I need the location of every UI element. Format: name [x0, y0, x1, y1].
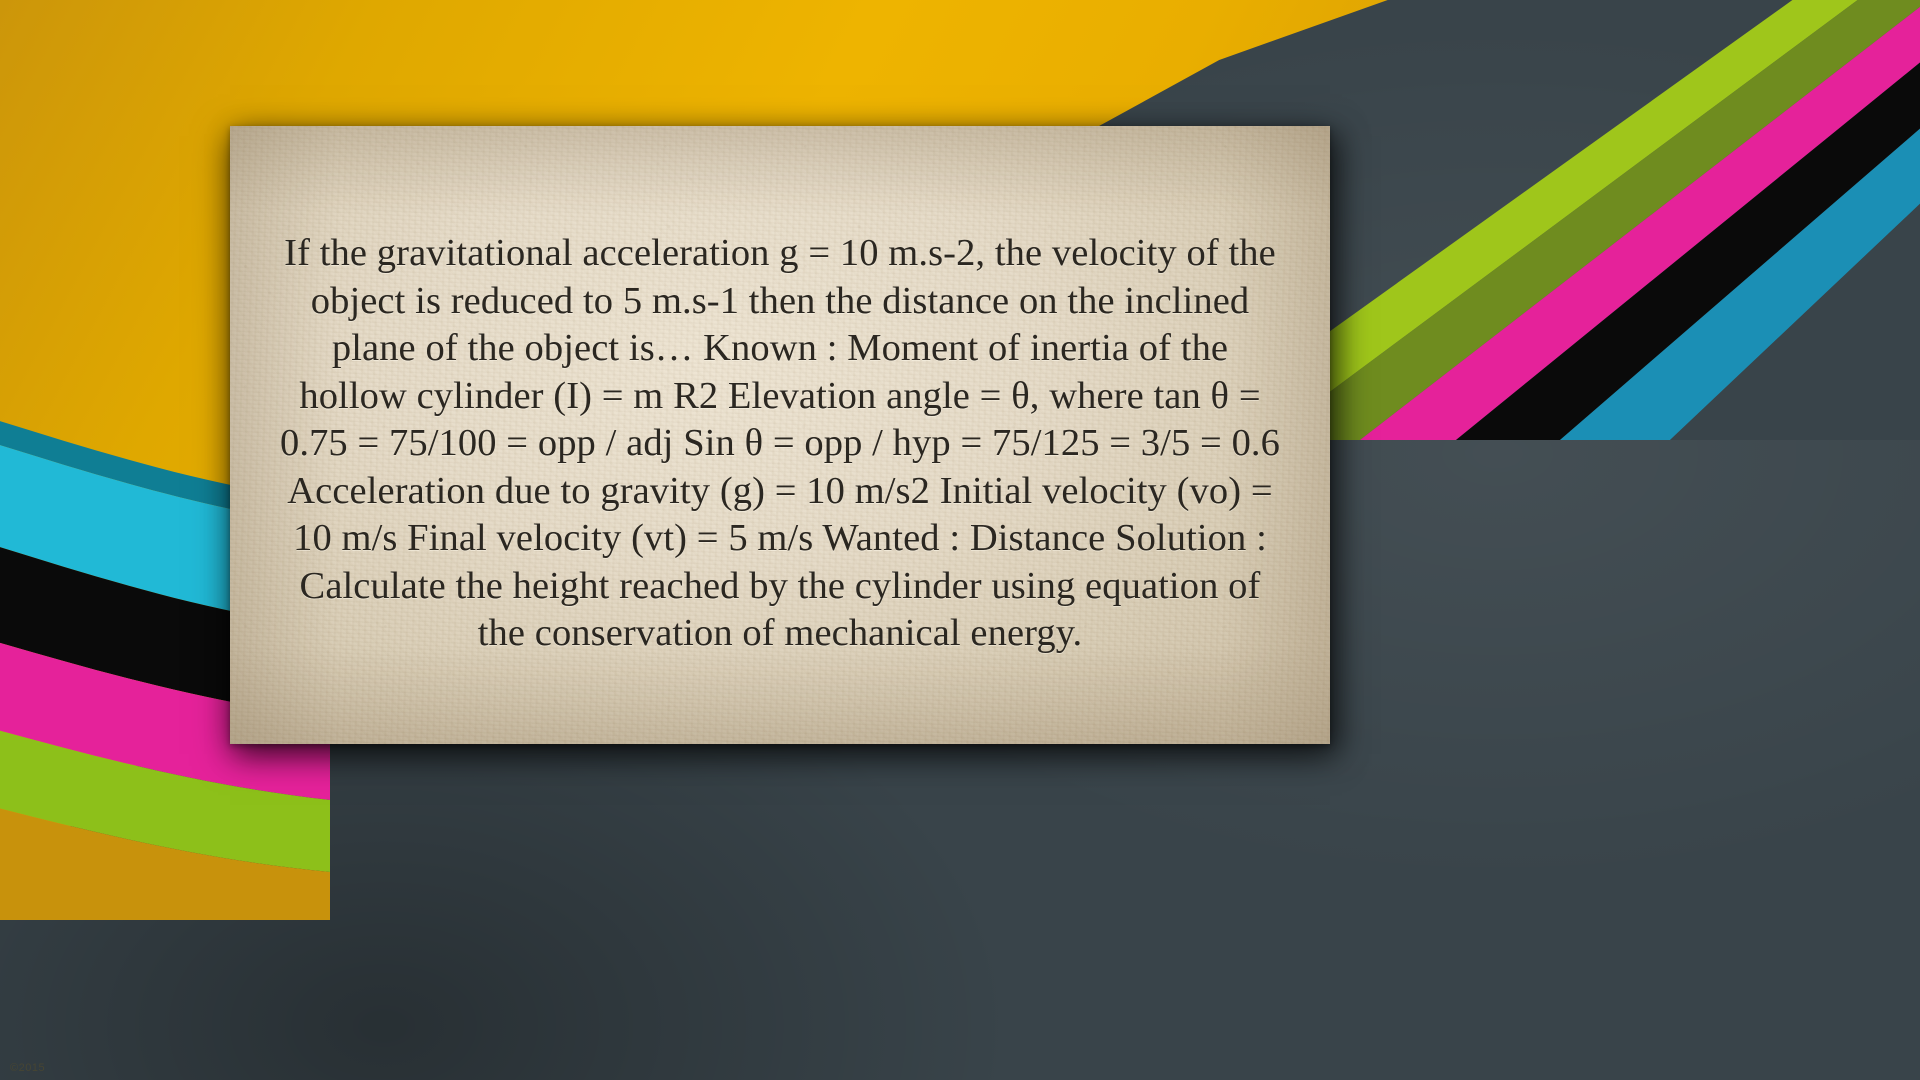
paper-content-card: If the gravitational acceleration g = 10…: [230, 126, 1330, 744]
watermark-label: ©2015: [10, 1062, 45, 1074]
presentation-slide: If the gravitational acceleration g = 10…: [0, 0, 1920, 1080]
slide-body-paragraph: If the gravitational acceleration g = 10…: [274, 230, 1286, 658]
slide-body-text-block: If the gravitational acceleration g = 10…: [274, 230, 1286, 658]
